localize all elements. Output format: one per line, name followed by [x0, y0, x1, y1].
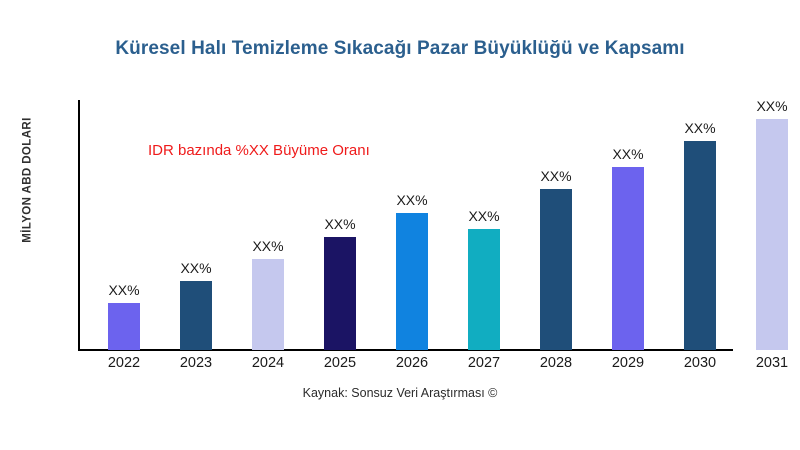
bar-2030 — [684, 141, 716, 350]
bar-value-label-2022: XX% — [90, 282, 158, 298]
bar-value-label-2025: XX% — [306, 216, 374, 232]
x-tick-2025: 2025 — [306, 355, 374, 371]
x-tick-2023: 2023 — [162, 355, 230, 371]
source-caption: Kaynak: Sonsuz Veri Araştırması © — [0, 386, 800, 400]
y-axis-title: MİLYON ABD DOLARI — [22, 117, 34, 242]
bar-value-label-2030: XX% — [666, 120, 734, 136]
x-tick-2022: 2022 — [90, 355, 158, 371]
bar-value-label-2024: XX% — [234, 238, 302, 254]
x-tick-2029: 2029 — [594, 355, 662, 371]
chart-title: Küresel Halı Temizleme Sıkacağı Pazar Bü… — [0, 38, 800, 60]
x-axis-tick-labels: 2022202320242025202620272028202920302031 — [78, 355, 800, 379]
x-tick-2031: 2031 — [738, 355, 800, 371]
bar-2022 — [108, 303, 140, 350]
y-axis-title-container: MİLYON ABD DOLARI — [0, 0, 56, 360]
bar-value-label-2026: XX% — [378, 192, 446, 208]
x-tick-2026: 2026 — [378, 355, 446, 371]
x-tick-2030: 2030 — [666, 355, 734, 371]
bar-value-label-2027: XX% — [450, 208, 518, 224]
bar-2027 — [468, 229, 500, 350]
bar-2029 — [612, 167, 644, 350]
bars-container: XX%XX%XX%XX%XX%XX%XX%XX%XX%XX% — [78, 100, 800, 350]
bar-value-label-2031: XX% — [738, 98, 800, 114]
bar-2024 — [252, 259, 284, 350]
x-tick-2024: 2024 — [234, 355, 302, 371]
bar-2026 — [396, 213, 428, 350]
bar-2028 — [540, 189, 572, 350]
bar-2025 — [324, 237, 356, 350]
x-tick-2027: 2027 — [450, 355, 518, 371]
bar-value-label-2028: XX% — [522, 168, 590, 184]
bar-2023 — [180, 281, 212, 350]
bar-chart-figure: Küresel Halı Temizleme Sıkacağı Pazar Bü… — [0, 0, 800, 450]
bar-value-label-2023: XX% — [162, 260, 230, 276]
bar-2031 — [756, 119, 788, 350]
bar-value-label-2029: XX% — [594, 146, 662, 162]
x-tick-2028: 2028 — [522, 355, 590, 371]
